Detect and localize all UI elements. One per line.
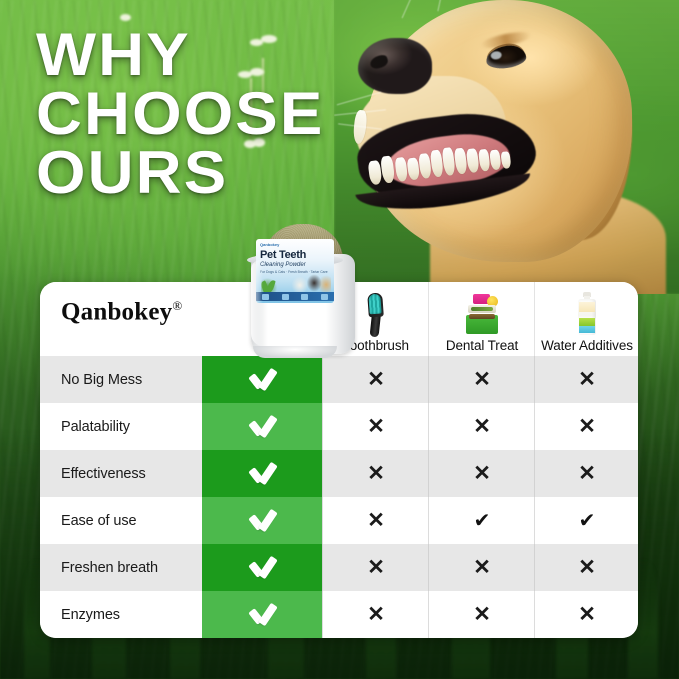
dental-treat-icon	[460, 291, 504, 337]
brand-logo: Qanbokey®	[61, 298, 201, 326]
brand-cell	[202, 544, 322, 591]
cell-water-additives: ✕	[534, 450, 638, 497]
column-header-water-additives: Water Additives	[534, 282, 638, 356]
cell-dental-treat: ✔	[428, 497, 535, 544]
cell-water-additives: ✔	[534, 497, 638, 544]
brand-cell	[202, 450, 322, 497]
cell-dental-treat: ✕	[428, 591, 535, 638]
check-icon	[247, 416, 277, 438]
brand-cell	[202, 356, 322, 403]
row-label: Ease of use	[61, 497, 136, 544]
x-icon: ✕	[367, 604, 385, 625]
table-row: Palatability ✕ ✕ ✕	[40, 403, 638, 450]
column-label: Dental Treat	[446, 338, 518, 356]
cell-toothbrush: ✕	[322, 450, 429, 497]
table-row: Effectiveness ✕ ✕ ✕	[40, 450, 638, 497]
check-icon	[247, 510, 277, 532]
jar-label-brand: Qanbokey	[260, 242, 279, 247]
pets-photo	[291, 272, 331, 294]
table-row: Enzymes ✕ ✕ ✕	[40, 591, 638, 638]
x-icon: ✕	[473, 604, 491, 625]
x-icon: ✕	[473, 369, 491, 390]
headline-line-1: WHY	[36, 26, 407, 85]
cell-water-additives: ✕	[534, 544, 638, 591]
column-header-dental-treat: Dental Treat	[428, 282, 535, 356]
table-row: Freshen breath ✕ ✕ ✕	[40, 544, 638, 591]
headline-line-2: CHOOSE	[36, 85, 407, 144]
brand-column	[202, 356, 322, 638]
brand-cell	[202, 403, 322, 450]
x-icon: ✕	[367, 369, 385, 390]
x-icon: ✕	[367, 463, 385, 484]
cell-dental-treat: ✕	[428, 356, 535, 403]
x-icon: ✕	[578, 463, 596, 484]
cell-water-additives: ✕	[534, 403, 638, 450]
row-label: No Big Mess	[61, 356, 142, 403]
check-icon	[247, 604, 277, 626]
check-icon	[247, 463, 277, 485]
water-bottle-icon	[565, 291, 609, 337]
row-label: Enzymes	[61, 591, 120, 638]
row-label: Palatability	[61, 403, 130, 450]
registered-trademark-icon: ®	[172, 298, 182, 313]
jar-label-badge-strip	[256, 292, 334, 301]
table-body: No Big Mess ✕ ✕ ✕ Palatability ✕ ✕ ✕ Eff…	[40, 356, 638, 638]
cell-water-additives: ✕	[534, 356, 638, 403]
cell-toothbrush: ✕	[322, 544, 429, 591]
cell-water-additives: ✕	[534, 591, 638, 638]
x-icon: ✕	[578, 557, 596, 578]
x-icon: ✕	[578, 416, 596, 437]
brand-name: Qanbokey	[61, 298, 172, 325]
brand-cell	[202, 591, 322, 638]
x-icon: ✕	[578, 604, 596, 625]
row-label: Freshen breath	[61, 544, 158, 591]
table-row: Ease of use ✕ ✔ ✔	[40, 497, 638, 544]
table-row: No Big Mess ✕ ✕ ✕	[40, 356, 638, 403]
check-icon	[247, 557, 277, 579]
jar-label-subtitle: Cleaning Powder	[260, 262, 306, 268]
check-icon: ✔	[579, 511, 596, 531]
cell-dental-treat: ✕	[428, 450, 535, 497]
x-icon: ✕	[473, 416, 491, 437]
cell-dental-treat: ✕	[428, 544, 535, 591]
check-icon: ✔	[474, 511, 491, 531]
cell-toothbrush: ✕	[322, 591, 429, 638]
headline-line-3: OURS	[36, 144, 407, 203]
x-icon: ✕	[473, 557, 491, 578]
x-icon: ✕	[367, 557, 385, 578]
product-jar-icon: Qanbokey Pet Teeth Cleaning Powder For D…	[243, 224, 361, 356]
jar-label: Qanbokey Pet Teeth Cleaning Powder For D…	[256, 239, 334, 303]
cell-dental-treat: ✕	[428, 403, 535, 450]
cell-toothbrush: ✕	[322, 356, 429, 403]
x-icon: ✕	[367, 416, 385, 437]
check-icon	[247, 369, 277, 391]
row-label: Effectiveness	[61, 450, 146, 497]
jar-label-title: Pet Teeth	[260, 249, 306, 261]
column-label: Water Additives	[541, 338, 633, 356]
page-title: WHY CHOOSE OURS	[36, 26, 386, 202]
cell-toothbrush: ✕	[322, 403, 429, 450]
x-icon: ✕	[578, 369, 596, 390]
x-icon: ✕	[367, 510, 385, 531]
cell-toothbrush: ✕	[322, 497, 429, 544]
x-icon: ✕	[473, 463, 491, 484]
brand-cell	[202, 497, 322, 544]
infographic-canvas: WHY CHOOSE OURS Qanbokey® Toothbrush	[0, 0, 679, 679]
